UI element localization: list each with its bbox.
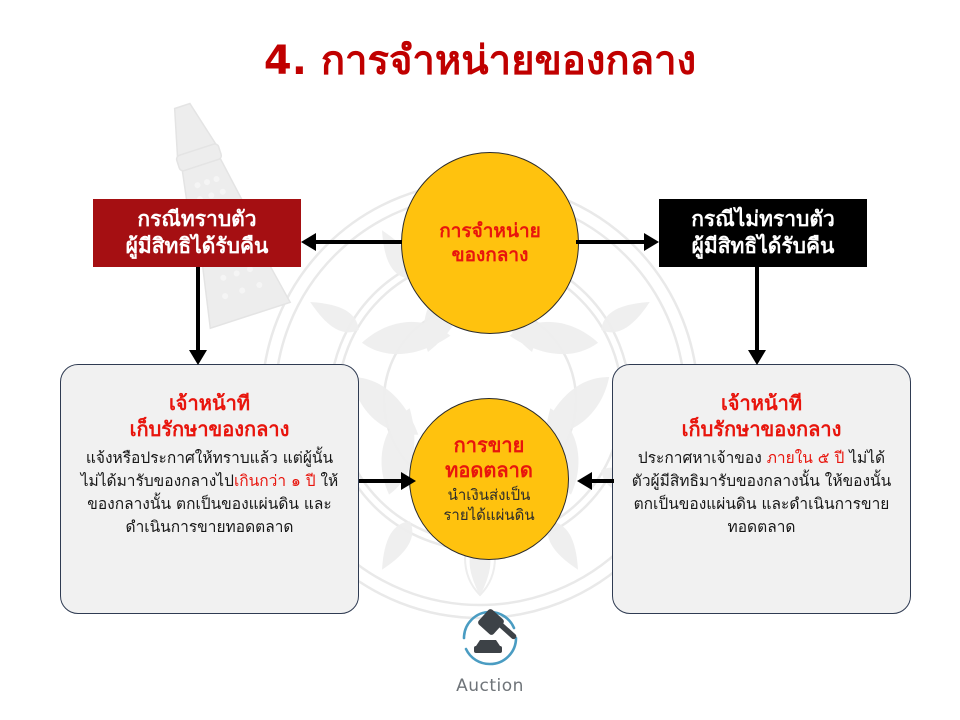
right-panel-head2: เก็บรักษาของกลาง [627,417,896,443]
bottom-circle-line2: ทอดตลาด [445,458,533,483]
arrow-left-banner-to-left-panel [196,267,200,350]
arrow-top-circle-to-left-banner-head [301,233,316,251]
arrow-right-panel-to-bottom-circle-head [577,472,592,490]
right-banner-line1: กรณีไม่ทราบตัว [691,206,835,233]
right-banner-line2: ผู้มีสิทธิได้รับคืน [692,233,835,260]
arrow-top-circle-to-left-banner [316,240,402,244]
top-circle-line1: การจำหน่าย [439,219,541,243]
node-auction-sale[interactable]: การขาย ทอดตลาด นำเงินส่งเป็น รายได้แผ่นด… [409,398,569,560]
arrow-right-banner-to-right-panel-head [748,350,766,365]
panel-custodian-officer-known-owner[interactable]: เจ้าหน้าที เก็บรักษาของกลาง แจ้งหรือประก… [60,364,359,614]
arrow-right-banner-to-right-panel [755,267,759,350]
arrow-top-circle-to-right-banner [576,240,644,244]
bottom-circle-line1: การขาย [445,433,533,458]
diagram-canvas: 4. การจำหน่ายของกลาง การจำหน่าย ของกลาง … [0,0,960,720]
left-panel-head1: เจ้าหน้าที [75,391,344,417]
panel-custodian-officer-unknown-owner[interactable]: เจ้าหน้าที เก็บรักษาของกลาง ประกาศหาเจ้า… [612,364,911,614]
node-unknown-rightful-owner[interactable]: กรณีไม่ทราบตัว ผู้มีสิทธิได้รับคืน [659,199,867,267]
left-panel-body-highlight: เกินกว่า ๑ ปี [234,472,316,490]
arrow-left-banner-to-left-panel-head [189,350,207,365]
page-title: 4. การจำหน่ายของกลาง [0,38,960,84]
bottom-circle-sub2: รายได้แผ่นดิน [443,506,534,526]
right-panel-body-part1: ประกาศหาเจ้าของ [638,449,767,467]
arrow-left-panel-to-bottom-circle-head [401,472,416,490]
left-banner-line1: กรณีทราบตัว [137,206,256,233]
right-panel-body: ประกาศหาเจ้าของ ภายใน ๕ ปี ไม่ได้ตัวผู้ม… [627,447,896,539]
bottom-circle-sub1: นำเงินส่งเป็น [443,486,534,506]
left-banner-line2: ผู้มีสิทธิได้รับคืน [126,233,269,260]
left-panel-head2: เก็บรักษาของกลาง [75,417,344,443]
right-panel-head1: เจ้าหน้าที [627,391,896,417]
right-panel-body-highlight: ภายใน ๕ ปี [767,449,845,467]
left-panel-body: แจ้งหรือประกาศให้ทราบแล้ว แต่ผู้นั้น ไม่… [75,447,344,539]
top-circle-line2: ของกลาง [439,243,541,267]
auction-badge: Auction [443,602,537,702]
gavel-icon [452,602,528,674]
arrow-right-panel-to-bottom-circle [592,479,614,483]
node-disposal-of-evidence[interactable]: การจำหน่าย ของกลาง [401,152,579,334]
arrow-left-panel-to-bottom-circle [359,479,401,483]
arrow-top-circle-to-right-banner-head [644,233,659,251]
node-known-rightful-owner[interactable]: กรณีทราบตัว ผู้มีสิทธิได้รับคืน [93,199,301,267]
auction-label: Auction [456,676,524,696]
